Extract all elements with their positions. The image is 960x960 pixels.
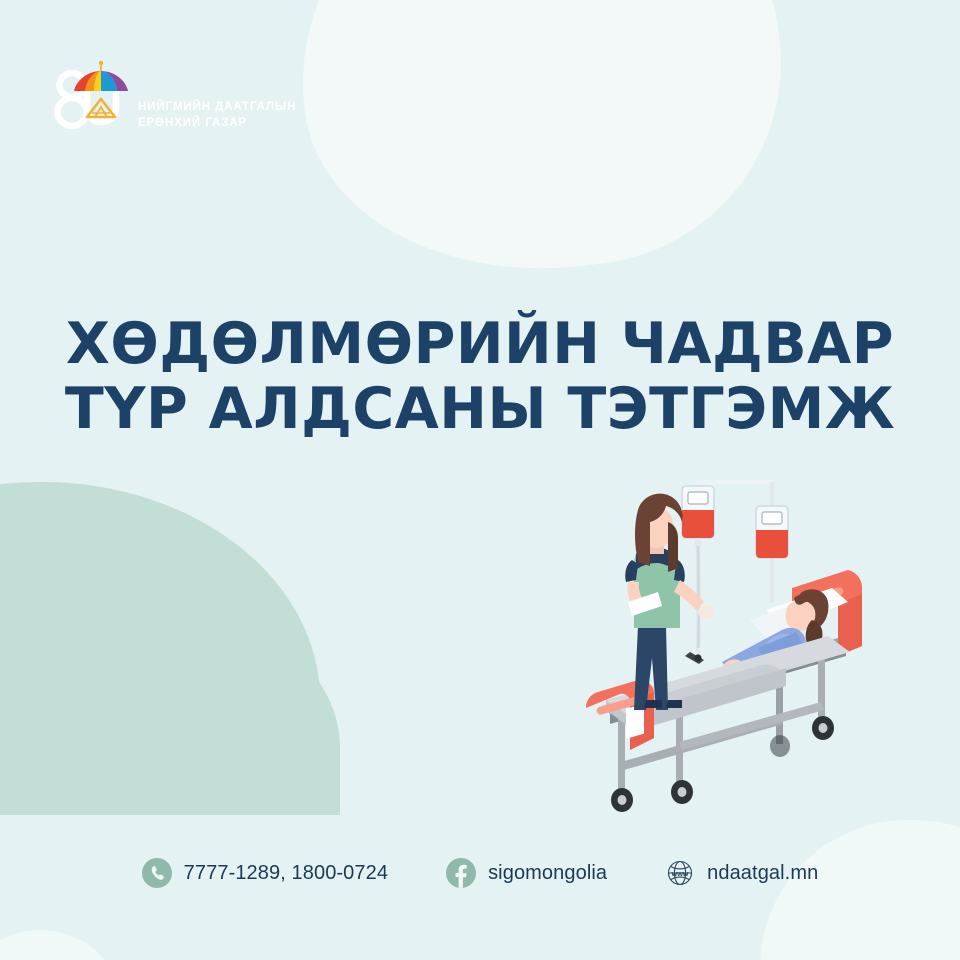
website-url-label: ndaatgal.mn: [707, 862, 818, 885]
footer-contact-bar: 7777-1289, 1800-0724 sigomongolia: [0, 858, 960, 888]
org-name-line-2: ЕРӨНХИЙ ГАЗАР: [138, 115, 296, 132]
decorative-blob-top-right: [273, 0, 807, 301]
svg-text:www: www: [671, 869, 689, 878]
decorative-blob-left: [0, 482, 320, 812]
page-title: ХӨДӨЛМӨРИЙН ЧАДВАР ТҮР АЛДСАНЫ ТЭТГЭМЖ: [0, 312, 960, 442]
facebook-handle-label: sigomongolia: [488, 862, 607, 885]
iv-bag-right: [756, 506, 788, 558]
brand-logo: НИЙГМИЙН ДААТГАЛЫН ЕРӨНХИЙ ГАЗАР: [52, 58, 296, 138]
umbrella-finial: [99, 61, 103, 72]
headline-line-1: ХӨДӨЛМӨРИЙН ЧАДВАР: [0, 312, 960, 377]
facebook-icon: [446, 858, 476, 888]
contact-phone[interactable]: 7777-1289, 1800-0724: [142, 858, 388, 888]
hospital-illustration: [580, 470, 910, 850]
decorative-blob-bottom-left: [0, 930, 120, 960]
decorative-blob-top-right-secondary: [430, 0, 690, 240]
iv-bag-left: [682, 486, 714, 546]
poster-canvas: НИЙГМИЙН ДААТГАЛЫН ЕРӨНХИЙ ГАЗАР ХӨДӨЛМӨ…: [0, 0, 960, 960]
globe-www-icon: www: [665, 858, 695, 888]
80-anniversary-umbrella-icon: [52, 58, 130, 138]
decorative-blob-left-secondary: [0, 590, 340, 815]
organization-name: НИЙГМИЙН ДААТГАЛЫН ЕРӨНХИЙ ГАЗАР: [138, 99, 296, 132]
contact-website[interactable]: www ndaatgal.mn: [665, 858, 818, 888]
phone-icon: [142, 858, 172, 888]
contact-facebook[interactable]: sigomongolia: [446, 858, 607, 888]
headline-line-2: ТҮР АЛДСАНЫ ТЭТГЭМЖ: [0, 377, 960, 442]
phone-number-label: 7777-1289, 1800-0724: [184, 862, 388, 885]
org-name-line-1: НИЙГМИЙН ДААТГАЛЫН: [138, 99, 296, 116]
